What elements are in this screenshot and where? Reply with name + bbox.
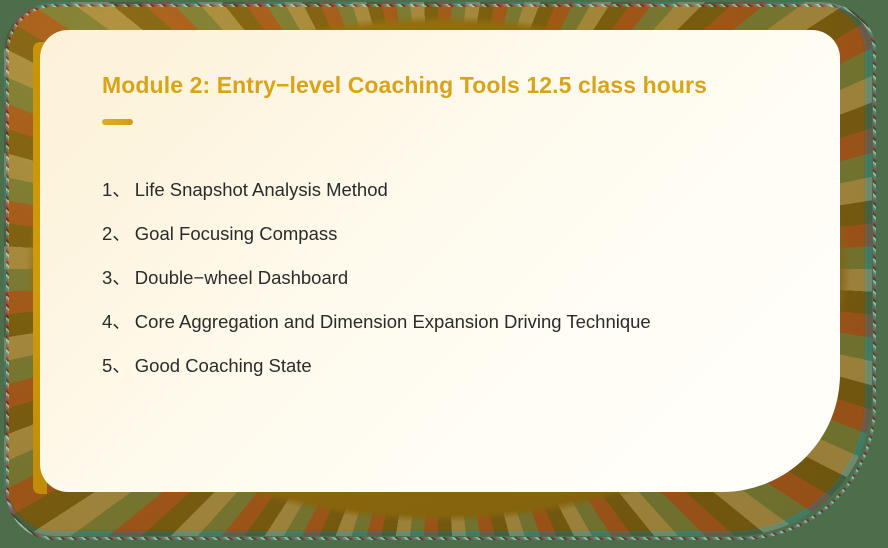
list-item-index: 1、 bbox=[102, 176, 131, 202]
list-item: 5、 Good Coaching State bbox=[102, 352, 802, 396]
list-item-label: Goal Focusing Compass bbox=[135, 223, 338, 245]
coaching-tools-list: 1、 Life Snapshot Analysis Method 2、 Goal… bbox=[102, 176, 802, 396]
title-underline-dash bbox=[102, 119, 133, 125]
list-item-index: 2、 bbox=[102, 220, 131, 246]
list-item: 2、 Goal Focusing Compass bbox=[102, 220, 802, 264]
list-item-label: Life Snapshot Analysis Method bbox=[135, 179, 388, 201]
list-item-index: 5、 bbox=[102, 352, 131, 378]
slide-canvas: Module 2: Entry−level Coaching Tools 12.… bbox=[0, 0, 888, 548]
list-item: 1、 Life Snapshot Analysis Method bbox=[102, 176, 802, 220]
list-item: 4、 Core Aggregation and Dimension Expans… bbox=[102, 308, 802, 352]
page-title: Module 2: Entry−level Coaching Tools 12.… bbox=[102, 72, 802, 99]
list-item-label: Double−wheel Dashboard bbox=[135, 267, 348, 289]
list-item-label: Core Aggregation and Dimension Expansion… bbox=[135, 311, 651, 333]
list-item-index: 3、 bbox=[102, 264, 131, 290]
list-item: 3、 Double−wheel Dashboard bbox=[102, 264, 802, 308]
list-item-index: 4、 bbox=[102, 308, 131, 334]
list-item-label: Good Coaching State bbox=[135, 355, 312, 377]
module-card: Module 2: Entry−level Coaching Tools 12.… bbox=[40, 30, 840, 492]
module-title-block: Module 2: Entry−level Coaching Tools 12.… bbox=[102, 72, 802, 125]
